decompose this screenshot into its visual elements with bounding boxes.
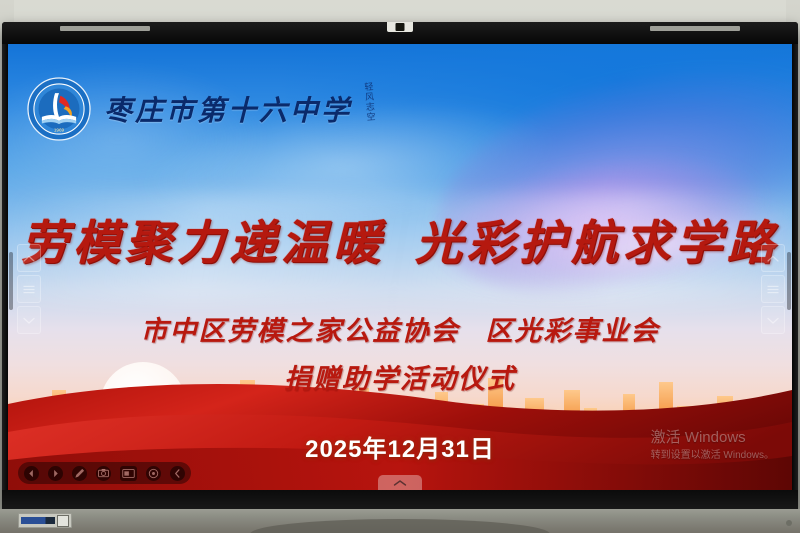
school-name-text: 枣庄市第十六中学 [104,89,352,129]
main-title-right: 光彩护航求学路 [415,218,779,270]
camera-lens-icon [396,23,405,31]
menu-icon[interactable] [761,275,785,303]
main-title: 劳模聚力递温暖光彩护航求学路 [8,204,792,273]
toolbar-pull-tab[interactable] [378,475,422,490]
interactive-flat-panel-display: 1969 枣庄市第十六中学 轻风志空 劳模聚力递温暖光彩护航求学路 市中区劳模之… [2,22,798,512]
sticker-barcode [21,517,55,524]
organizer-2: 区光彩事业会 [486,316,660,346]
chevron-down-icon[interactable] [17,306,41,334]
banner-header: 1969 枣庄市第十六中学 轻风志空 [26,76,373,142]
top-vent-left [60,26,150,31]
display-right-bezel [792,44,798,490]
school-emblem-logo: 1969 [26,76,92,142]
camera-module [387,22,413,32]
sticker-qr-square [57,515,69,527]
chevron-up-icon[interactable] [761,244,785,272]
chevron-up-icon[interactable] [17,244,41,272]
event-date: 2025年12月31日 [8,429,792,464]
side-panel-right[interactable] [761,244,783,334]
side-panel-left[interactable] [17,244,39,334]
menu-icon[interactable] [17,275,41,303]
pen-icon[interactable] [72,466,87,481]
event-name: 捐赠助学活动仪式 [8,357,792,396]
side-rail-right [787,252,791,310]
svg-text:1969: 1969 [54,127,65,132]
main-title-left: 劳模聚力递温暖 [21,218,385,270]
side-rail-left [9,252,13,310]
forward-arrow-icon[interactable] [48,466,63,481]
device-sticker-label [18,513,72,528]
back-arrow-icon[interactable] [24,466,39,481]
whiteboard-icon[interactable] [120,466,137,481]
photograph-of-meeting-room-display: 1969 枣庄市第十六中学 轻风志空 劳模聚力递温暖光彩护航求学路 市中区劳模之… [0,0,800,533]
on-screen-toolbar[interactable] [18,462,191,484]
organizer-line: 市中区劳模之家公益协会区光彩事业会 [8,309,792,348]
top-vent-right [650,26,740,31]
chevron-down-icon[interactable] [761,306,785,334]
camera-icon[interactable] [96,466,111,481]
organizer-1: 市中区劳模之家公益协会 [141,316,460,346]
stand-curve [250,519,550,533]
collapse-chevron-icon[interactable] [170,466,185,481]
calligraphy-signature: 轻风志空 [363,82,375,123]
display-stand [0,509,800,533]
stand-screw [786,520,792,526]
settings-icon[interactable] [146,466,161,481]
display-top-bezel [2,22,798,44]
display-screen[interactable]: 1969 枣庄市第十六中学 轻风志空 劳模聚力递温暖光彩护航求学路 市中区劳模之… [8,44,792,490]
